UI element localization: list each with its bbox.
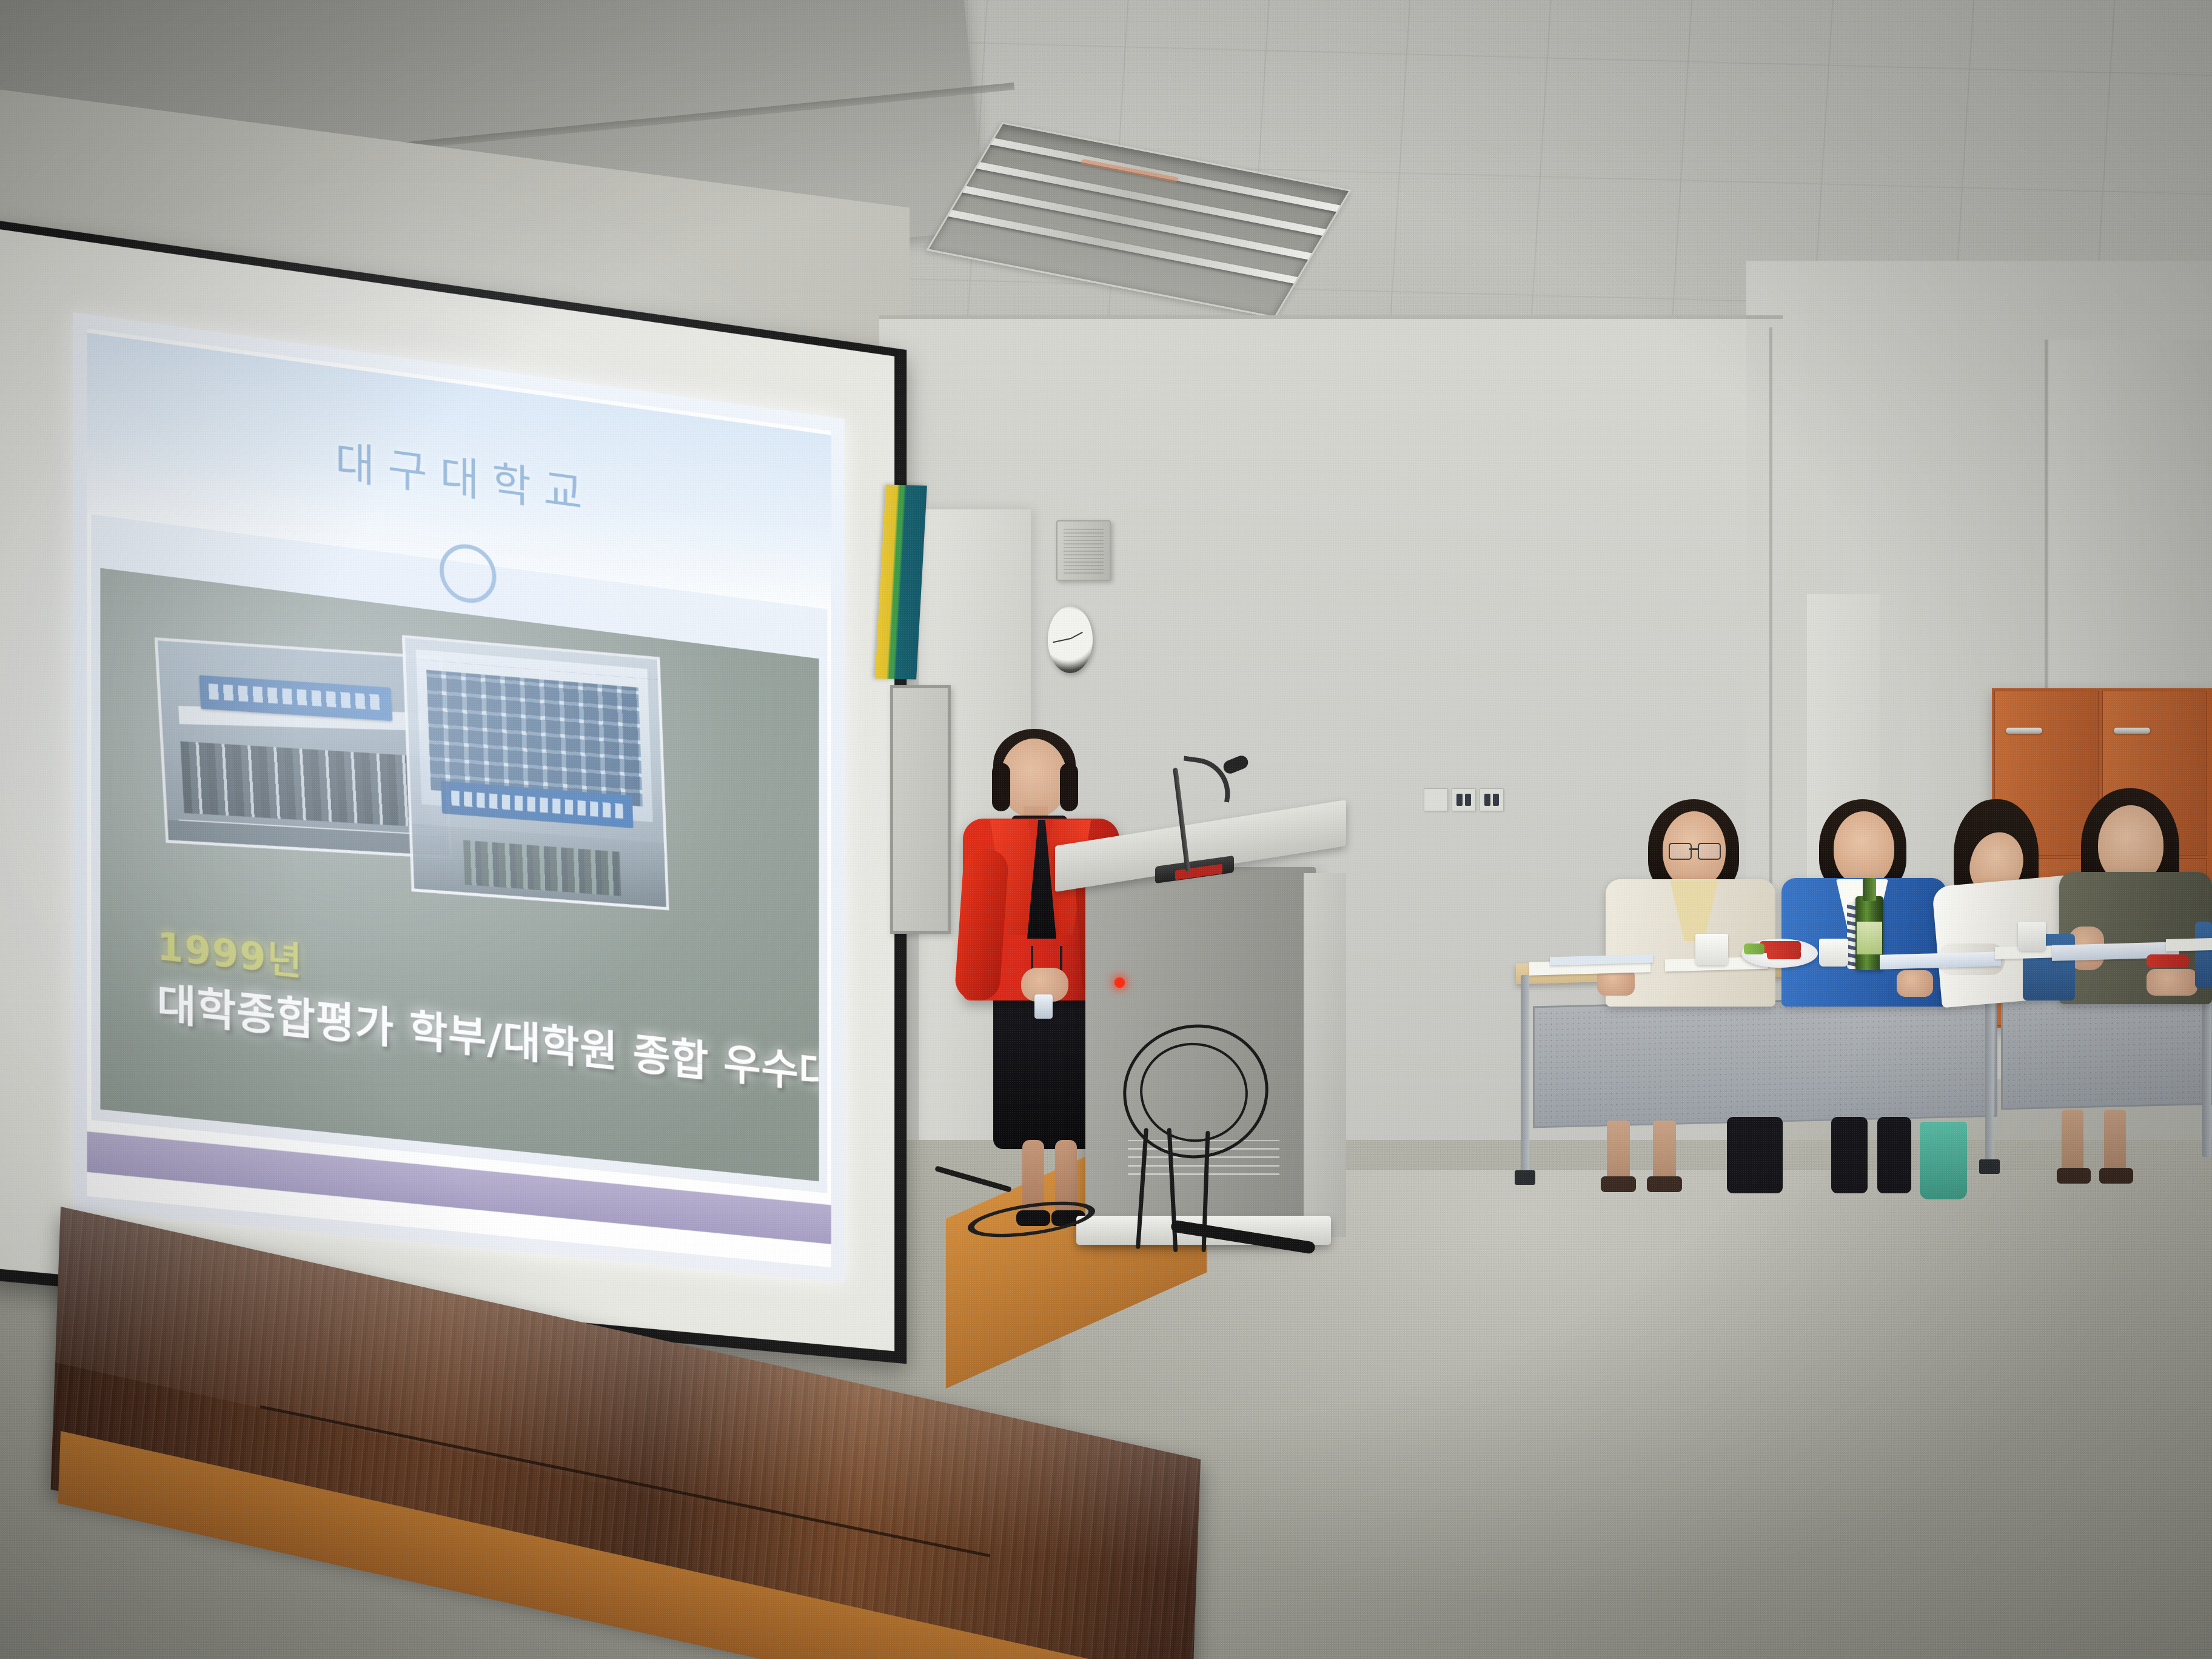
eyeglasses-bridge [1689,848,1698,850]
projection-screen[interactable]: 대구대학교 [0,218,907,1364]
photo-roof [178,706,426,731]
presenter-name-badge [1034,994,1053,1019]
seated-person-head [1834,811,1894,885]
photo-banner [199,675,392,721]
cabinet-handle[interactable] [2006,728,2042,734]
seated-person-hand [1897,970,1933,997]
wall-ceiling-joint [879,315,1783,319]
table-leg [1521,975,1529,1175]
photo-sign-text [451,791,623,819]
wall-outlet-plate[interactable] [1480,788,1504,811]
person-leg-dark [1831,1117,1868,1193]
presenter-hair-side [992,763,1010,811]
table-foot [1515,1170,1535,1185]
paper-cup[interactable] [1695,934,1728,965]
photo-sign [441,781,634,828]
table-foot [1979,1159,2000,1174]
table-modesty-panel [2001,986,2212,1110]
seminar-room-photo: 대구대학교 [0,0,2212,1659]
screen-surface: 대구대학교 [0,228,894,1351]
slide-headline: 대학종합평가 학부/대학원 종합 우수대학 선정 [157,968,786,1096]
wall-speaker [1056,520,1111,581]
eyeglasses-icon [1669,843,1692,860]
fruit-slice-red [1767,950,1801,959]
table-modesty-panel [1533,995,1997,1128]
slide-content-panel: 1999년 대학종합평가 학부/대학원 종합 우수대학 선정 [100,568,819,1181]
paper-sheet[interactable] [2166,938,2212,951]
slide-photo-ceremony [155,637,452,859]
paper-cup[interactable] [2018,922,2046,951]
photo-crowd [180,742,431,828]
person-sandal [2057,1168,2091,1184]
person-sandal [1647,1176,1682,1192]
slide-photo-campus-gate [402,635,669,910]
lectern-side-panel [1304,873,1346,1237]
presentation-slide: 대구대학교 [73,312,845,1283]
clock-minute-hand [1053,638,1071,643]
eyeglasses-icon [1698,843,1721,860]
photo-banner-text [208,683,383,711]
seated-person-hand [2147,969,2197,996]
cabinet-handle[interactable] [2114,728,2150,734]
presenter-hair-side [1060,763,1078,811]
wall-panel-board [890,685,951,934]
fruit-slice-green [1744,943,1765,954]
slide-year-label: 1999년 [157,916,303,987]
paper-cup[interactable] [1819,939,1848,967]
wall-outlet-plate[interactable] [1452,788,1476,811]
bottle-neck [1863,878,1876,901]
red-object [2147,954,2189,968]
presenter-head [1000,739,1067,817]
person-leg-dark [1727,1117,1783,1193]
chair[interactable] [2195,922,2212,988]
photo-rainbow-arch [421,660,669,859]
photo-railing [179,820,437,838]
person-leg-dark [1877,1117,1911,1193]
lectern-power-led [1114,977,1125,988]
clock-hour-hand [1071,632,1083,639]
person-sandal [2099,1168,2133,1184]
photo-windows [426,670,642,806]
photo-ground [167,820,449,856]
teal-bag [1920,1122,1967,1199]
photo-building [415,649,653,822]
person-sandal [1601,1176,1636,1192]
bottle-label [1857,922,1882,954]
photo-people [463,840,621,896]
wall-clock [1048,606,1093,673]
wall-switch-plate[interactable] [1424,788,1448,811]
photo-foreground [412,823,666,907]
